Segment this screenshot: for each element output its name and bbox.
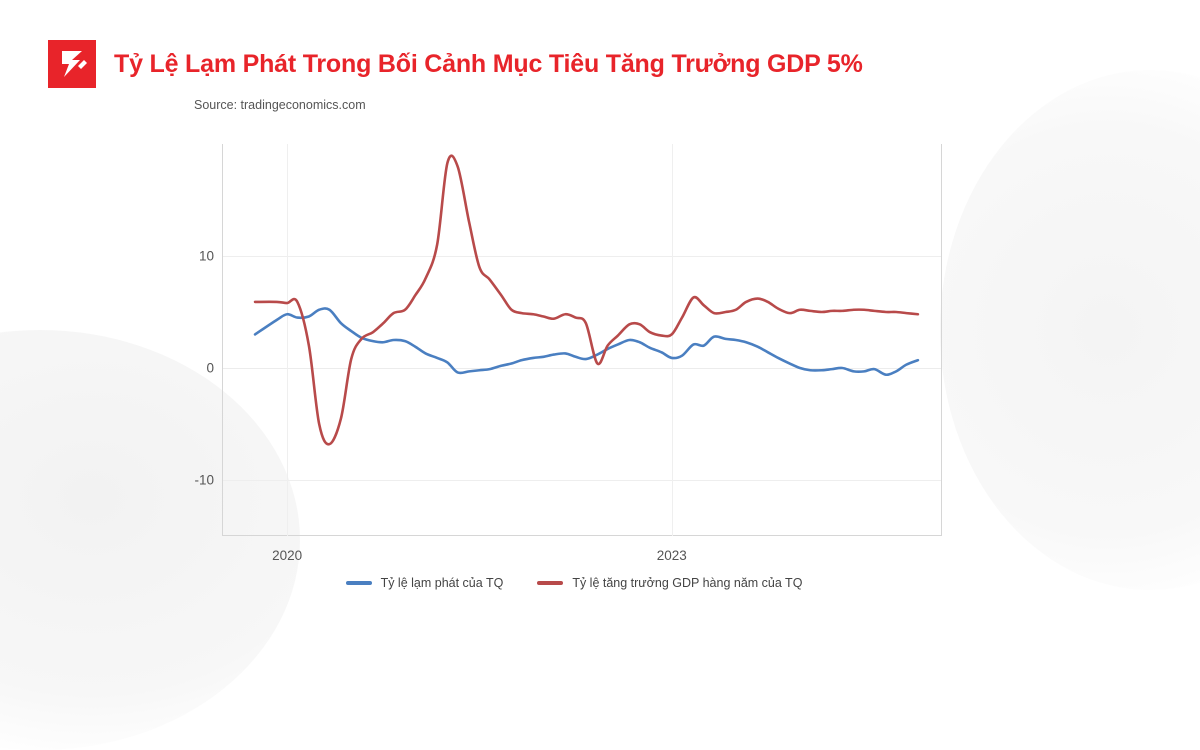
legend-label: Tỷ lệ tăng trưởng GDP hàng năm của TQ: [572, 576, 802, 590]
page-title: Tỷ Lệ Lạm Phát Trong Bối Cảnh Mục Tiêu T…: [114, 50, 863, 79]
legend-item[interactable]: Tỷ lệ tăng trưởng GDP hàng năm của TQ: [537, 576, 802, 590]
x-axis-tick-label: 2023: [657, 548, 687, 563]
series-line: [255, 156, 918, 445]
x-axis-tick-label: 2020: [272, 548, 302, 563]
series-line: [255, 308, 918, 374]
chart-series-layer: [223, 144, 941, 536]
legend-item[interactable]: Tỷ lệ lạm phát của TQ: [346, 576, 504, 590]
chart-source: Source: tradingeconomics.com: [194, 98, 366, 112]
chart-legend: Tỷ lệ lạm phát của TQTỷ lệ tăng trưởng G…: [194, 576, 954, 590]
tradingeconomics-flag-icon: [48, 40, 96, 88]
chart-plot-area: -1001020202023: [222, 144, 942, 536]
legend-swatch-icon: [346, 581, 372, 585]
legend-label: Tỷ lệ lạm phát của TQ: [381, 576, 504, 590]
header: Tỷ Lệ Lạm Phát Trong Bối Cảnh Mục Tiêu T…: [48, 40, 863, 88]
y-axis-tick-label: 10: [199, 249, 214, 264]
background-decoration-right: [940, 70, 1200, 590]
chart: -1001020202023 Tỷ lệ lạm phát của TQTỷ l…: [194, 136, 954, 606]
y-axis-tick-label: -10: [194, 473, 214, 488]
legend-swatch-icon: [537, 581, 563, 585]
y-axis-tick-label: 0: [206, 361, 214, 376]
